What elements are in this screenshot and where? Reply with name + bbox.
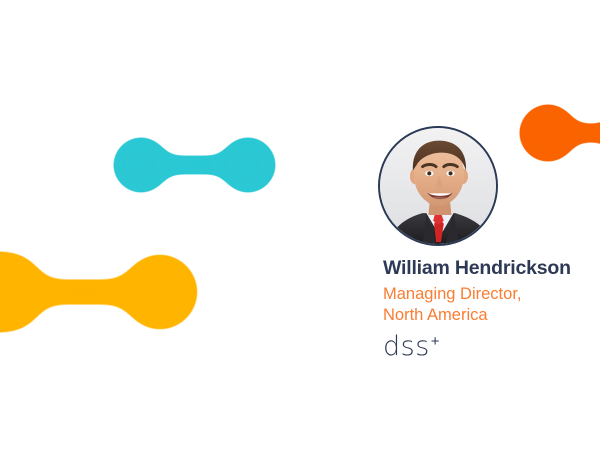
dss-plus-logo: dss+ (383, 333, 440, 360)
brand-logo-plus: + (431, 333, 440, 350)
speaker-card-slide: William Hendrickson Managing Director, N… (0, 0, 600, 450)
speaker-title-line-1: Managing Director, (383, 284, 600, 305)
avatar-portrait-image (380, 128, 496, 244)
teal-metaball-blob (113, 137, 276, 193)
yellow-metaball-blob (0, 252, 198, 332)
speaker-title-line-2: North America (383, 305, 600, 326)
avatar (378, 126, 498, 246)
speaker-name: William Hendrickson (383, 258, 600, 279)
speaker-info-block: William Hendrickson Managing Director, N… (378, 126, 600, 360)
brand-logo-text: dss (383, 331, 430, 362)
